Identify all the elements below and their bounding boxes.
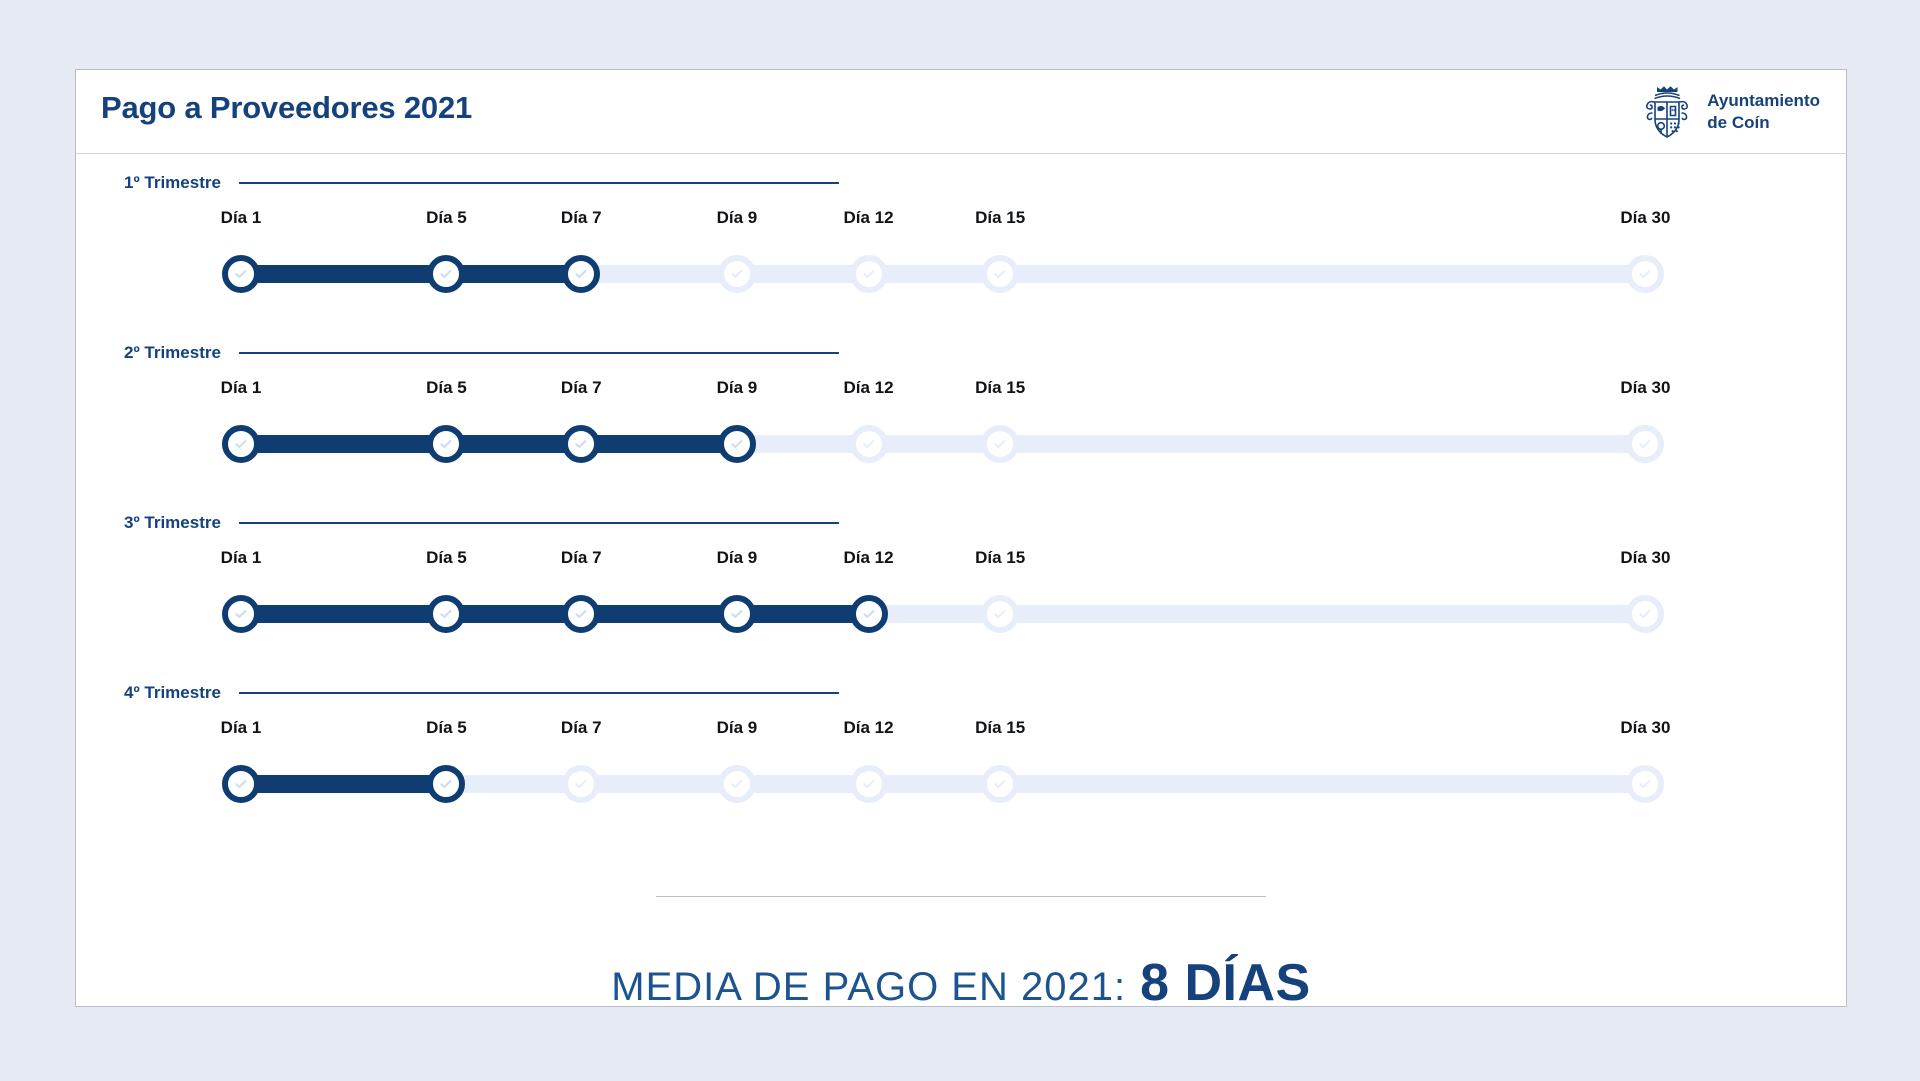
brand-name: Ayuntamiento de Coín	[1707, 90, 1820, 134]
day-label-row: Día 1 Día 5 Día 7 Día 9 Día 12 Día 15 Dí…	[241, 208, 1846, 234]
milestone-node[interactable]	[718, 595, 756, 633]
milestone-node[interactable]	[427, 765, 465, 803]
day-label: Día 15	[975, 718, 1025, 738]
day-label: Día 7	[561, 548, 602, 568]
progress-track	[241, 418, 1846, 470]
day-label: Día 9	[717, 208, 758, 228]
milestone-node[interactable]	[850, 765, 888, 803]
quarter-row: 3º Trimestre Día 1 Día 5 Día 7 Día 9 Día…	[76, 494, 1846, 664]
milestone-node[interactable]	[981, 595, 1019, 633]
day-label: Día 15	[975, 208, 1025, 228]
day-label: Día 9	[717, 718, 758, 738]
milestone-node[interactable]	[718, 765, 756, 803]
day-label: Día 1	[221, 548, 262, 568]
milestone-node[interactable]	[427, 595, 465, 633]
milestone-node[interactable]	[1626, 595, 1664, 633]
day-label: Día 7	[561, 378, 602, 398]
milestone-node[interactable]	[1626, 765, 1664, 803]
milestone-node[interactable]	[562, 425, 600, 463]
quarter-header: 3º Trimestre	[124, 513, 839, 533]
day-label: Día 1	[221, 718, 262, 738]
milestone-node[interactable]	[562, 765, 600, 803]
milestone-node[interactable]	[222, 255, 260, 293]
brand-block: Ayuntamiento de Coín	[1639, 83, 1820, 141]
day-label: Día 7	[561, 208, 602, 228]
milestone-node[interactable]	[981, 765, 1019, 803]
quarter-track-2: Día 1 Día 5 Día 7 Día 9 Día 12 Día 15 Dí…	[241, 378, 1846, 478]
day-label: Día 15	[975, 378, 1025, 398]
milestone-node[interactable]	[1626, 255, 1664, 293]
quarter-label: 4º Trimestre	[124, 683, 221, 703]
infographic-page: Pago a Proveedores 2021	[0, 0, 1920, 1081]
quarter-rule	[239, 522, 839, 524]
quarter-header: 2º Trimestre	[124, 343, 839, 363]
summary-value: 8 DÍAS	[1140, 954, 1311, 1012]
milestone-node[interactable]	[981, 425, 1019, 463]
track-fill	[241, 435, 737, 453]
milestone-node[interactable]	[850, 425, 888, 463]
day-label: Día 12	[844, 718, 894, 738]
day-label: Día 12	[844, 378, 894, 398]
quarter-track-1: Día 1 Día 5 Día 7 Día 9 Día 12 Día 15 Dí…	[241, 208, 1846, 308]
page-title: Pago a Proveedores 2021	[101, 90, 472, 126]
day-label: Día 30	[1620, 208, 1670, 228]
brand-line-2: de Coín	[1707, 113, 1769, 132]
milestone-node[interactable]	[562, 595, 600, 633]
day-label: Día 5	[426, 208, 467, 228]
track-fill	[241, 775, 446, 793]
progress-track	[241, 758, 1846, 810]
report-card: Pago a Proveedores 2021	[75, 69, 1847, 1007]
footer-divider	[656, 896, 1266, 897]
day-label: Día 5	[426, 378, 467, 398]
quarter-header: 1º Trimestre	[124, 173, 839, 193]
quarter-label: 3º Trimestre	[124, 513, 221, 533]
milestone-node[interactable]	[427, 425, 465, 463]
milestone-node[interactable]	[222, 595, 260, 633]
quarter-rule	[239, 692, 839, 694]
summary-text: MEDIA DE PAGO EN 2021:8 DÍAS	[76, 953, 1846, 1013]
day-label: Día 30	[1620, 548, 1670, 568]
milestone-node[interactable]	[1626, 425, 1664, 463]
day-label: Día 12	[844, 548, 894, 568]
quarter-label: 2º Trimestre	[124, 343, 221, 363]
summary-label: MEDIA DE PAGO EN 2021:	[611, 965, 1126, 1009]
coin-coat-of-arms-icon	[1639, 83, 1695, 141]
quarter-rule	[239, 182, 839, 184]
quarter-track-4: Día 1 Día 5 Día 7 Día 9 Día 12 Día 15 Dí…	[241, 718, 1846, 818]
quarter-track-3: Día 1 Día 5 Día 7 Día 9 Día 12 Día 15 Dí…	[241, 548, 1846, 648]
day-label: Día 9	[717, 378, 758, 398]
milestone-node[interactable]	[981, 255, 1019, 293]
milestone-node[interactable]	[222, 765, 260, 803]
day-label: Día 5	[426, 548, 467, 568]
milestone-node[interactable]	[427, 255, 465, 293]
card-header: Pago a Proveedores 2021	[76, 70, 1846, 154]
milestone-node[interactable]	[718, 425, 756, 463]
day-label: Día 1	[221, 378, 262, 398]
day-label: Día 15	[975, 548, 1025, 568]
day-label: Día 30	[1620, 718, 1670, 738]
day-label-row: Día 1 Día 5 Día 7 Día 9 Día 12 Día 15 Dí…	[241, 378, 1846, 404]
day-label: Día 12	[844, 208, 894, 228]
quarter-row: 2º Trimestre Día 1 Día 5 Día 7 Día 9 Día…	[76, 324, 1846, 494]
milestone-node[interactable]	[850, 595, 888, 633]
quarter-label: 1º Trimestre	[124, 173, 221, 193]
milestone-node[interactable]	[718, 255, 756, 293]
quarter-row: 1º Trimestre Día 1 Día 5 Día 7 Día 9 Día…	[76, 154, 1846, 324]
day-label: Día 1	[221, 208, 262, 228]
brand-line-1: Ayuntamiento	[1707, 91, 1820, 110]
summary-footer: MEDIA DE PAGO EN 2021:8 DÍAS	[76, 896, 1846, 1013]
day-label: Día 9	[717, 548, 758, 568]
quarter-rule	[239, 352, 839, 354]
progress-track	[241, 248, 1846, 300]
day-label: Día 7	[561, 718, 602, 738]
milestone-node[interactable]	[850, 255, 888, 293]
progress-track	[241, 588, 1846, 640]
milestone-node[interactable]	[222, 425, 260, 463]
track-fill	[241, 265, 581, 283]
track-fill	[241, 605, 869, 623]
quarter-header: 4º Trimestre	[124, 683, 839, 703]
milestone-node[interactable]	[562, 255, 600, 293]
day-label: Día 5	[426, 718, 467, 738]
quarter-row: 4º Trimestre Día 1 Día 5 Día 7 Día 9 Día…	[76, 664, 1846, 834]
day-label: Día 30	[1620, 378, 1670, 398]
card-body: 1º Trimestre Día 1 Día 5 Día 7 Día 9 Día…	[76, 154, 1846, 834]
day-label-row: Día 1 Día 5 Día 7 Día 9 Día 12 Día 15 Dí…	[241, 718, 1846, 744]
day-label-row: Día 1 Día 5 Día 7 Día 9 Día 12 Día 15 Dí…	[241, 548, 1846, 574]
